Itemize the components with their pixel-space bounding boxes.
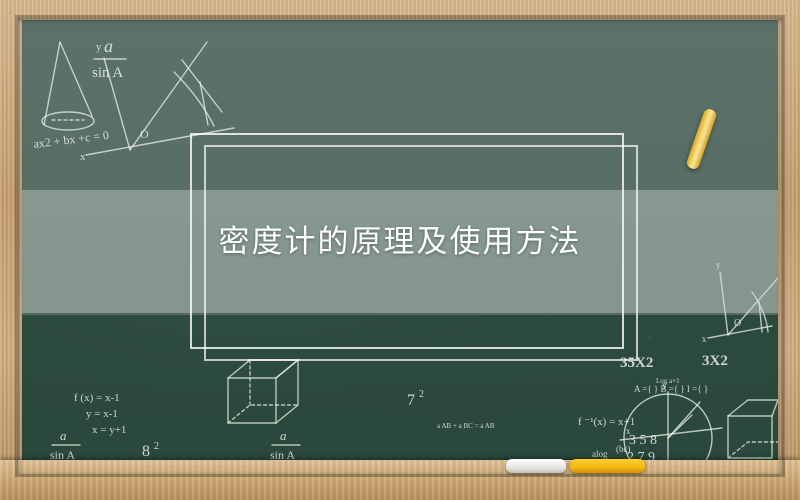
svg-text:a: a	[60, 428, 67, 443]
svg-text:sin A: sin A	[50, 448, 75, 460]
svg-text:f (x) = x-1: f (x) = x-1	[74, 392, 120, 404]
inverse-function-text: f ⁻¹(x) = x+1	[578, 416, 635, 428]
set-expression-text: A ={ } B ={ } I ={ }	[634, 384, 708, 394]
svg-text:3 5 8: 3 5 8	[629, 433, 657, 448]
svg-text:2: 2	[419, 389, 424, 400]
white-chalk-stick-icon	[506, 459, 566, 473]
wireframe-cube-left	[228, 360, 298, 423]
wireframe-cube-right	[728, 400, 778, 458]
svg-text:8: 8	[142, 443, 150, 460]
label-3x2: 3X2	[702, 353, 728, 369]
log-label-text: Log a×1	[656, 377, 680, 385]
eight-squared-text: 8 2	[142, 441, 159, 460]
svg-text:(bc): (bc)	[616, 444, 631, 454]
svg-text:a: a	[280, 428, 287, 443]
small-vector-expression: a AB + a BC = a AB	[437, 422, 495, 430]
svg-text:x: x	[626, 426, 631, 436]
svg-text:y = x-1: y = x-1	[86, 408, 118, 420]
svg-text:O: O	[734, 318, 741, 329]
svg-text:y: y	[662, 380, 667, 390]
vertical-addition-text: 3 5 8 2 7 9	[624, 433, 672, 460]
svg-text:alog: alog	[592, 449, 608, 459]
page-title: 密度计的原理及使用方法	[22, 216, 778, 261]
function-equations-text: f (x) = x-1 y = x-1 x = y+1	[74, 392, 126, 436]
circle-axes-diagram: y x	[620, 380, 722, 460]
svg-text:x = y+1: x = y+1	[92, 424, 126, 436]
svg-text:x: x	[702, 334, 707, 344]
fraction-a-over-sina-bottomleft: a sin A	[50, 428, 80, 460]
chalkboard-upper-half	[22, 20, 778, 315]
chalkboard: a sin A ax2 + bx +c = 0 y x O	[22, 20, 778, 460]
svg-text:2: 2	[154, 441, 159, 452]
seven-squared-text: 7 2	[407, 389, 424, 409]
yellow-chalk-tray-icon	[570, 459, 645, 473]
svg-text:sin A: sin A	[270, 448, 295, 460]
fraction-a-over-sina-center: a sin A	[270, 428, 300, 460]
screenshot-root: a sin A ax2 + bx +c = 0 y x O	[0, 0, 800, 500]
label-35x2: 35X2	[620, 355, 653, 371]
svg-text:7: 7	[407, 392, 415, 409]
chalk-ledge	[0, 460, 800, 500]
alog-expression: alog (bc)	[592, 444, 631, 459]
